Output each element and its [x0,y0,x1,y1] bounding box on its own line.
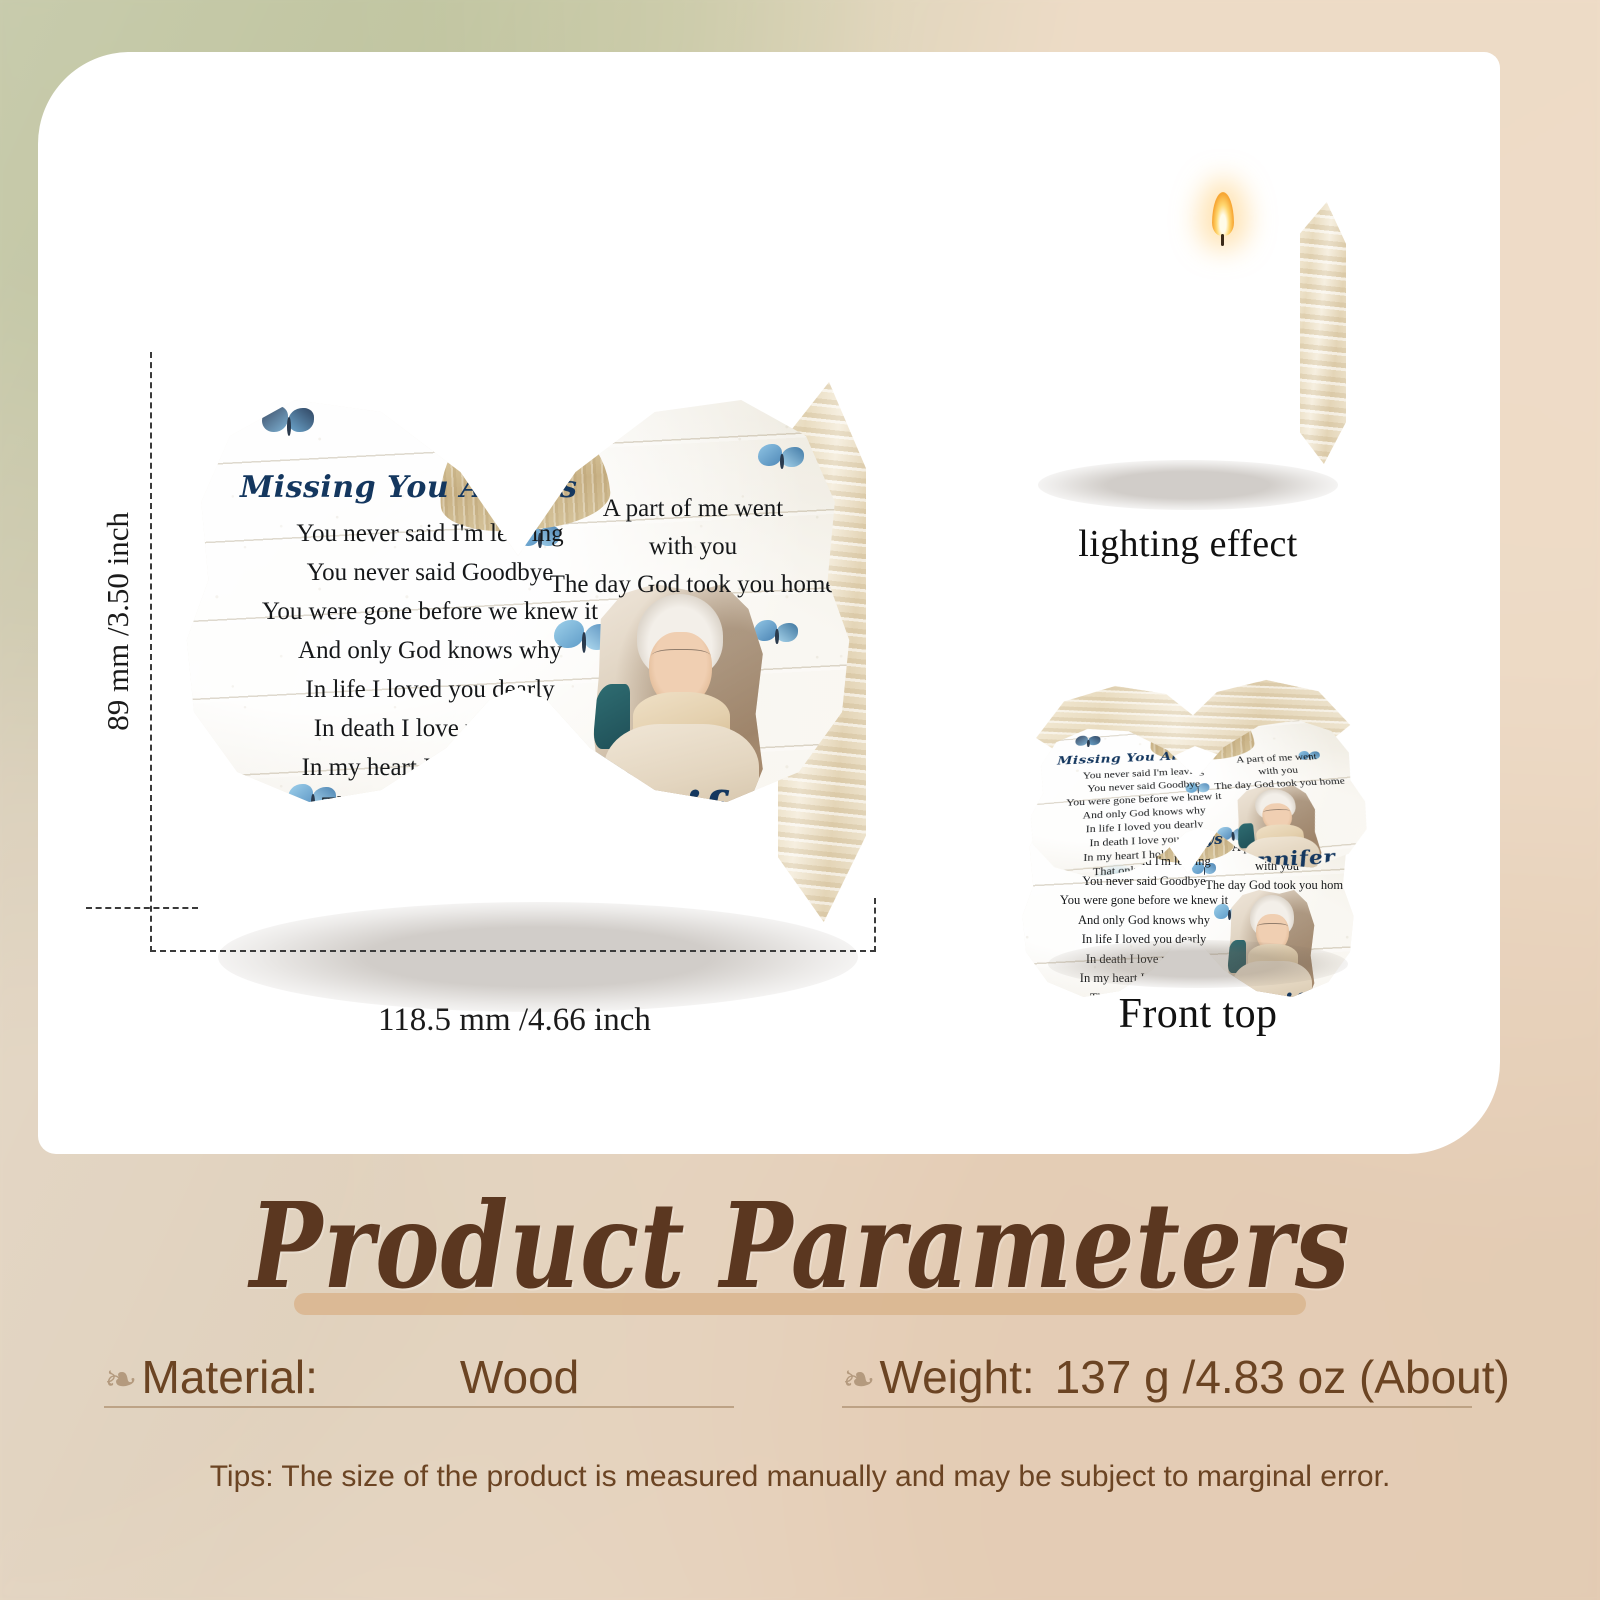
poem-right-block: A part of me went with you The day God t… [528,490,858,604]
width-dimension-label: 118.5 mm /4.66 inch [378,1002,651,1039]
material-row: ❧ Material: Wood [104,1350,579,1404]
weight-row-rule [842,1406,1472,1408]
dandelion-decor [1238,864,1288,919]
poem-line: The day God took you home [528,566,858,604]
candle-wick [1221,234,1224,246]
memorial-name: Jennifer [1231,845,1337,872]
thumb1-shadow [1038,460,1338,510]
main-plaque-shadow [218,902,858,1012]
dandelion-decor [1163,877,1206,929]
dimension-guide-right [874,898,876,952]
poem-line: It broke my heart to lose you [220,826,640,865]
poem-line: In death I love you still [220,709,640,748]
weight-row: ❧ Weight: 137 g /4.83 oz (About) [842,1350,1510,1404]
candle-flame-icon [1212,192,1234,236]
height-dimension-label: 89 mm /3.50 inch [100,512,136,731]
poem-right-block: A part of me went with you The day God t… [1197,749,1360,794]
poem-line: But you didn't go alone [220,865,640,904]
poem-line: But you didn't go alone [1038,888,1255,914]
dimension-tick-top [86,907,198,909]
weight-value: 137 g /4.83 oz (About) [1055,1350,1510,1404]
weight-label: Weight: [880,1350,1035,1404]
memorial-years: 1945-2024 [566,844,722,886]
material-row-rule [104,1406,734,1408]
poem-line: It broke my heart to lose you [1038,873,1253,898]
butterfly-decor [758,444,804,478]
plaque-heading: Missing You Always [240,470,577,505]
dimension-guide-bottom [150,950,876,952]
product-parameters-section: Product Parameters ❧ Material: Wood ❧ We… [0,1154,1600,1600]
material-value: Wood [460,1350,579,1404]
product-showcase-card: Missing You Always You never said I'm le… [38,52,1500,1154]
poem-line: In life I loved you dearly [220,670,640,709]
front-top-thumbnail: Missing You Always You never said I'm le… [1007,671,1405,946]
lighting-effect-caption: lighting effect [1018,522,1358,566]
poem-line: That only you can fill [220,787,640,826]
main-butterfly-plaque: Missing You Always You never said I'm le… [158,352,878,952]
butterfly-bullet-icon: ❧ [842,1360,876,1400]
memorial-years: 1945-2024 [1237,870,1308,889]
tips-note: Tips: The size of the product is measure… [0,1460,1600,1494]
front-top-caption: Front top [1018,990,1378,1038]
poem-line: A part of me went [528,490,858,528]
poem-line: In my heart I hold a place [220,748,640,787]
poem-line: And only God knows why [220,631,640,670]
thumb1-side-edge [1300,202,1346,464]
butterfly-bullet-icon: ❧ [104,1360,138,1400]
poem-line: with you [528,528,858,566]
material-label: Material: [142,1350,318,1404]
butterfly-decor [262,406,314,446]
thumb2-shadow [1048,940,1348,988]
dimension-guide-left [150,352,152,952]
butterfly-decor [1075,735,1100,751]
memorial-name: Jennifer [558,782,780,838]
parameters-title: Product Parameters [144,1176,1456,1315]
